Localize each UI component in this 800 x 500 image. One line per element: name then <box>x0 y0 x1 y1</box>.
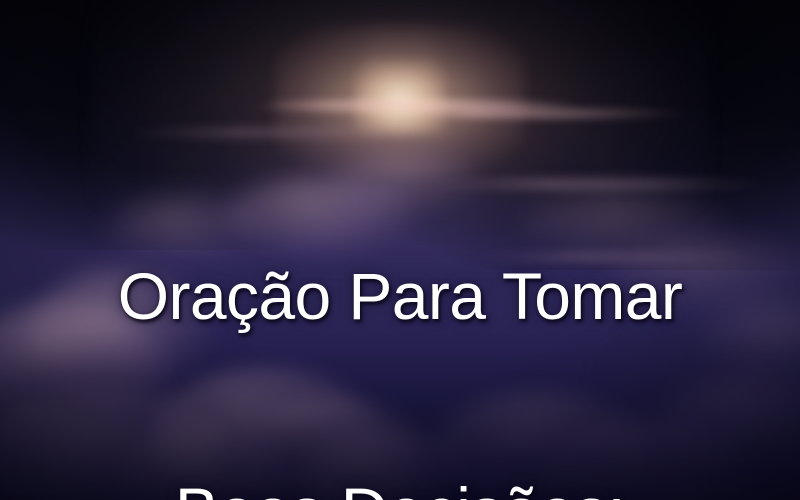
quote-banner: Oração Para Tomar Boas Decisões: Encontr… <box>0 0 800 500</box>
headline-line-1: Oração Para Tomar <box>0 261 800 333</box>
headline-line-2: Boas Decisões: <box>0 476 800 500</box>
headline-title: Oração Para Tomar Boas Decisões: Encontr… <box>0 118 800 500</box>
